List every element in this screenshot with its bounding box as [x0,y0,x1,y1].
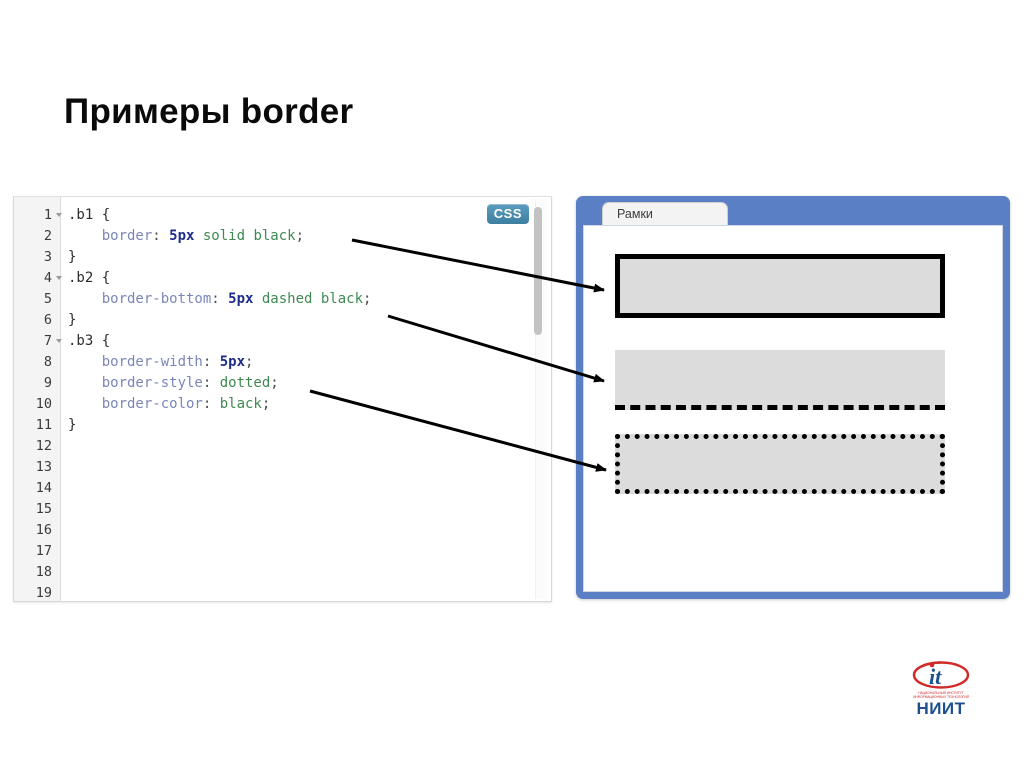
code-token-punc: : [152,228,169,244]
code-line[interactable]: } [68,247,76,268]
code-token-sel: .b1 [68,207,102,223]
code-token-val: solid black [194,228,295,244]
code-token-punc: : [203,396,220,412]
code-line[interactable]: } [68,415,76,436]
code-content-area[interactable]: .b1 { border: 5px solid black;}.b2 { bor… [60,197,551,601]
browser-tab-bar: Рамки [576,196,1010,224]
code-token-brace: } [68,249,76,265]
line-number: 11 [36,415,52,436]
code-token-prop: border-bottom [68,291,211,307]
browser-preview-panel: Рамки [576,196,1010,599]
code-editor-panel[interactable]: 12345678910111213141516171819 .b1 { bord… [13,196,552,602]
code-token-punc: ; [262,396,270,412]
code-token-prop: border-width [68,354,203,370]
browser-viewport [583,225,1003,592]
line-number: 9 [44,373,52,394]
code-token-brace: { [102,333,110,349]
page-title: Примеры border [64,92,353,132]
niit-logo: it НАЦИОНАЛЬНЫЙ ИНСТИТУТ ИНФОРМАЦИОННЫХ … [905,658,977,720]
line-number: 7 [44,331,52,352]
line-number: 17 [36,541,52,562]
code-token-num: 5px [228,291,253,307]
browser-tab-label: Рамки [617,207,653,221]
svg-text:it: it [929,664,942,689]
code-token-val: dotted [220,375,271,391]
line-number-gutter: 12345678910111213141516171819 [14,197,61,601]
code-line[interactable]: } [68,310,76,331]
code-line[interactable]: .b2 { [68,268,110,289]
code-line[interactable]: border: 5px solid black; [68,226,304,247]
code-token-prop: border [68,228,152,244]
code-token-val: black [220,396,262,412]
demo-box-b2-dashed-bottom-border [615,350,945,410]
code-token-prop: border-style [68,375,203,391]
demo-box-b1-solid-border [615,254,945,318]
code-line[interactable]: border-style: dotted; [68,373,279,394]
browser-tab[interactable]: Рамки [602,202,728,227]
logo-name: НИИТ [916,699,965,718]
code-token-punc: : [203,375,220,391]
code-scrollbar-thumb[interactable] [534,207,542,335]
line-number: 10 [36,394,52,415]
line-number: 14 [36,478,52,499]
line-number: 3 [44,247,52,268]
code-token-punc: ; [296,228,304,244]
code-token-punc: : [203,354,220,370]
code-token-brace: } [68,417,76,433]
language-badge-css: CSS [487,204,529,224]
code-token-punc: : [211,291,228,307]
code-token-num: 5px [169,228,194,244]
code-line[interactable]: border-width: 5px; [68,352,253,373]
code-token-prop: border-color [68,396,203,412]
code-token-num: 5px [220,354,245,370]
code-scrollbar-track[interactable] [535,199,547,599]
code-token-brace: } [68,312,76,328]
line-number: 18 [36,562,52,583]
code-token-brace: { [102,207,110,223]
line-number: 8 [44,352,52,373]
line-number: 6 [44,310,52,331]
line-number: 19 [36,583,52,602]
demo-box-b3-dotted-border [615,434,945,494]
line-number: 4 [44,268,52,289]
code-token-val: dashed black [253,291,363,307]
code-line[interactable]: .b3 { [68,331,110,352]
line-number: 16 [36,520,52,541]
line-number: 15 [36,499,52,520]
code-line[interactable]: .b1 { [68,205,110,226]
code-token-punc: ; [363,291,371,307]
code-line[interactable]: border-bottom: 5px dashed black; [68,289,371,310]
line-number: 2 [44,226,52,247]
code-token-punc: ; [245,354,253,370]
code-token-sel: .b2 [68,270,102,286]
code-token-sel: .b3 [68,333,102,349]
line-number: 5 [44,289,52,310]
line-number: 13 [36,457,52,478]
line-number: 1 [44,205,52,226]
code-line[interactable]: border-color: black; [68,394,270,415]
line-number: 12 [36,436,52,457]
code-token-brace: { [102,270,110,286]
code-token-punc: ; [270,375,278,391]
